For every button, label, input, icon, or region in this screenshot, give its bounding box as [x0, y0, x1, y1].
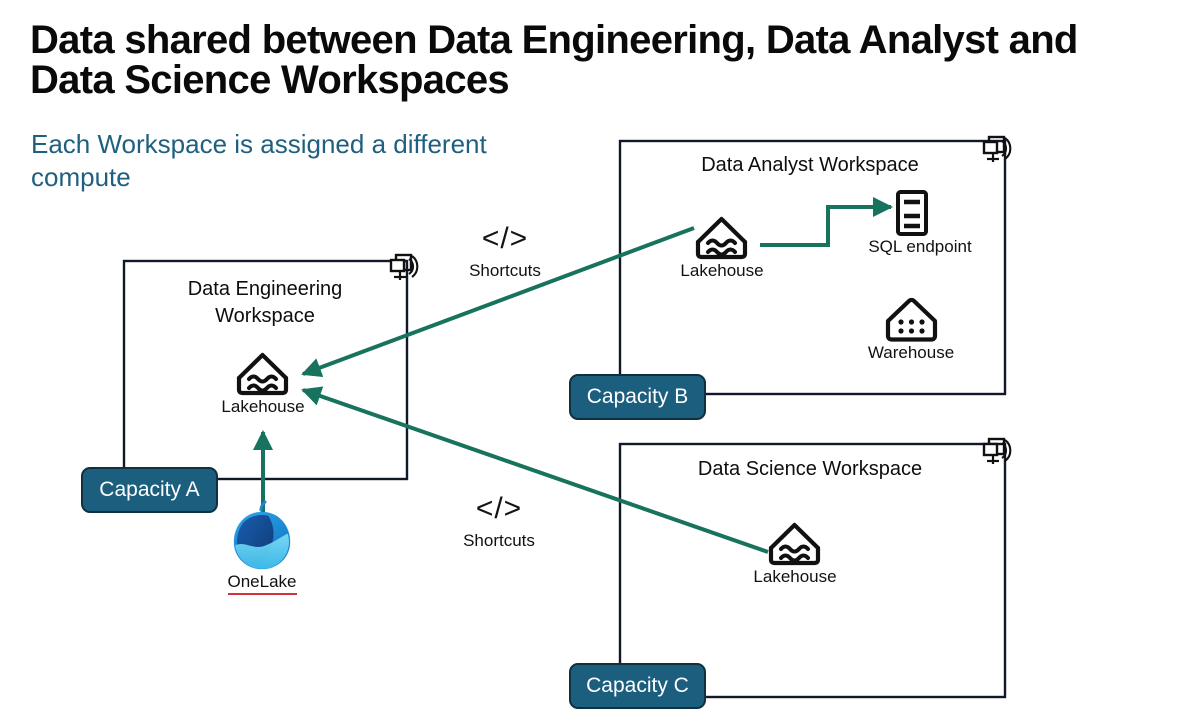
item-lakehouse-data-science[interactable]: Lakehouse: [725, 518, 865, 587]
workspace-icon: [984, 137, 1010, 162]
annotation-shortcuts-top: </> Shortcuts: [440, 224, 570, 281]
workspace-icon: [984, 439, 1010, 464]
onelake-label: OneLake: [228, 572, 297, 595]
capacity-badge-b[interactable]: Capacity B: [569, 374, 706, 420]
capacity-badge-a[interactable]: Capacity A: [81, 467, 218, 513]
item-warehouse[interactable]: Warehouse: [840, 292, 982, 363]
item-label: Lakehouse: [193, 397, 333, 417]
code-icon: </>: [440, 224, 570, 254]
diagram-vector-layer: [0, 0, 1200, 725]
workspace-icon: [391, 255, 417, 280]
annotation-label: Shortcuts: [434, 531, 564, 551]
item-sql-endpoint[interactable]: SQL endpoint: [842, 186, 998, 257]
annotation-label: Shortcuts: [440, 261, 570, 281]
item-label: Lakehouse: [652, 261, 792, 281]
item-label: SQL endpoint: [842, 237, 998, 257]
item-lakehouse-data-analyst[interactable]: Lakehouse: [652, 212, 792, 281]
item-onelake[interactable]: OneLake: [192, 508, 332, 595]
item-lakehouse-data-engineering[interactable]: Lakehouse: [193, 348, 333, 417]
item-label: Lakehouse: [725, 567, 865, 587]
page-title: Data shared between Data Engineering, Da…: [30, 20, 1160, 100]
item-label: Warehouse: [840, 343, 982, 363]
workspace-title-data-engineering: Data Engineering Workspace: [140, 276, 390, 330]
capacity-badge-c[interactable]: Capacity C: [569, 663, 706, 709]
slide-canvas: Data shared between Data Engineering, Da…: [0, 0, 1200, 725]
page-subtitle: Each Workspace is assigned a different c…: [31, 128, 571, 195]
annotation-shortcuts-bottom: </> Shortcuts: [434, 494, 564, 551]
code-icon: </>: [434, 494, 564, 524]
workspace-title-data-analyst: Data Analyst Workspace: [640, 152, 980, 179]
workspace-title-data-science: Data Science Workspace: [640, 456, 980, 483]
